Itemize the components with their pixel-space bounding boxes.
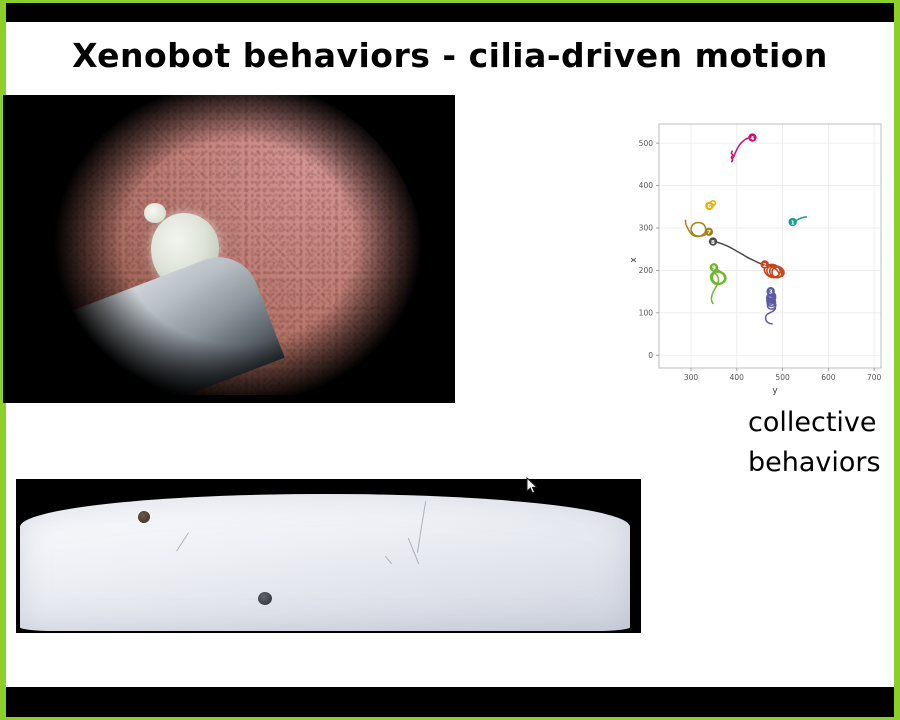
caption-line-2: behaviors xyxy=(748,443,894,483)
slide-title: Xenobot behaviors - cilia-driven motion xyxy=(0,36,900,75)
x-tick-label: 500 xyxy=(775,373,790,382)
chart-x-tick-labels: 300400500600700 xyxy=(684,373,882,382)
arena-xenobot-2 xyxy=(258,592,272,605)
chart-caption: collective behaviors xyxy=(748,403,894,483)
y-tick-label: 100 xyxy=(639,309,654,318)
y-tick-label: 0 xyxy=(648,351,653,360)
xenobot-microscopy-image[interactable] xyxy=(3,95,455,403)
x-tick-label: 300 xyxy=(684,373,699,382)
trajectory-marker-label-7: 7 xyxy=(707,230,711,236)
trajectory-chart: 300400500600700 0100200300400500 1234567… xyxy=(625,120,887,400)
trajectory-marker-label-1: 1 xyxy=(791,220,795,226)
y-tick-label: 500 xyxy=(639,139,654,148)
arena-xenobot-1 xyxy=(138,511,150,523)
letterbox-band-top xyxy=(6,3,894,22)
microscope-vignette xyxy=(3,95,455,403)
trajectory-marker-label-6: 6 xyxy=(707,204,711,210)
trajectory-marker-label-3: 3 xyxy=(769,289,773,295)
letterbox-band-bottom xyxy=(6,687,894,717)
trajectory-marker-label-9: 9 xyxy=(712,266,716,272)
arena-surface xyxy=(20,494,630,631)
trajectory-marker-label-8: 8 xyxy=(711,240,715,246)
presentation-slide: Xenobot behaviors - cilia-driven motion … xyxy=(0,0,900,720)
xenobot-arena-image[interactable] xyxy=(16,479,641,633)
caption-line-1: collective xyxy=(748,403,894,443)
x-tick-label: 700 xyxy=(867,373,882,382)
frame-border-right xyxy=(894,0,900,720)
y-tick-label: 200 xyxy=(639,266,654,275)
trajectory-plot-svg: 300400500600700 0100200300400500 1234567… xyxy=(625,120,887,400)
chart-x-axis-label: y xyxy=(772,386,778,396)
y-tick-label: 300 xyxy=(639,224,654,233)
trajectory-marker-label-2: 2 xyxy=(763,263,767,269)
chart-gridlines xyxy=(659,124,881,368)
chart-y-axis-label: x xyxy=(629,257,639,263)
x-tick-label: 600 xyxy=(821,373,836,382)
chart-y-tick-labels: 0100200300400500 xyxy=(639,139,654,360)
trajectory-marker-label-4: 4 xyxy=(750,136,754,142)
x-tick-label: 400 xyxy=(730,373,745,382)
y-tick-label: 400 xyxy=(639,181,654,190)
